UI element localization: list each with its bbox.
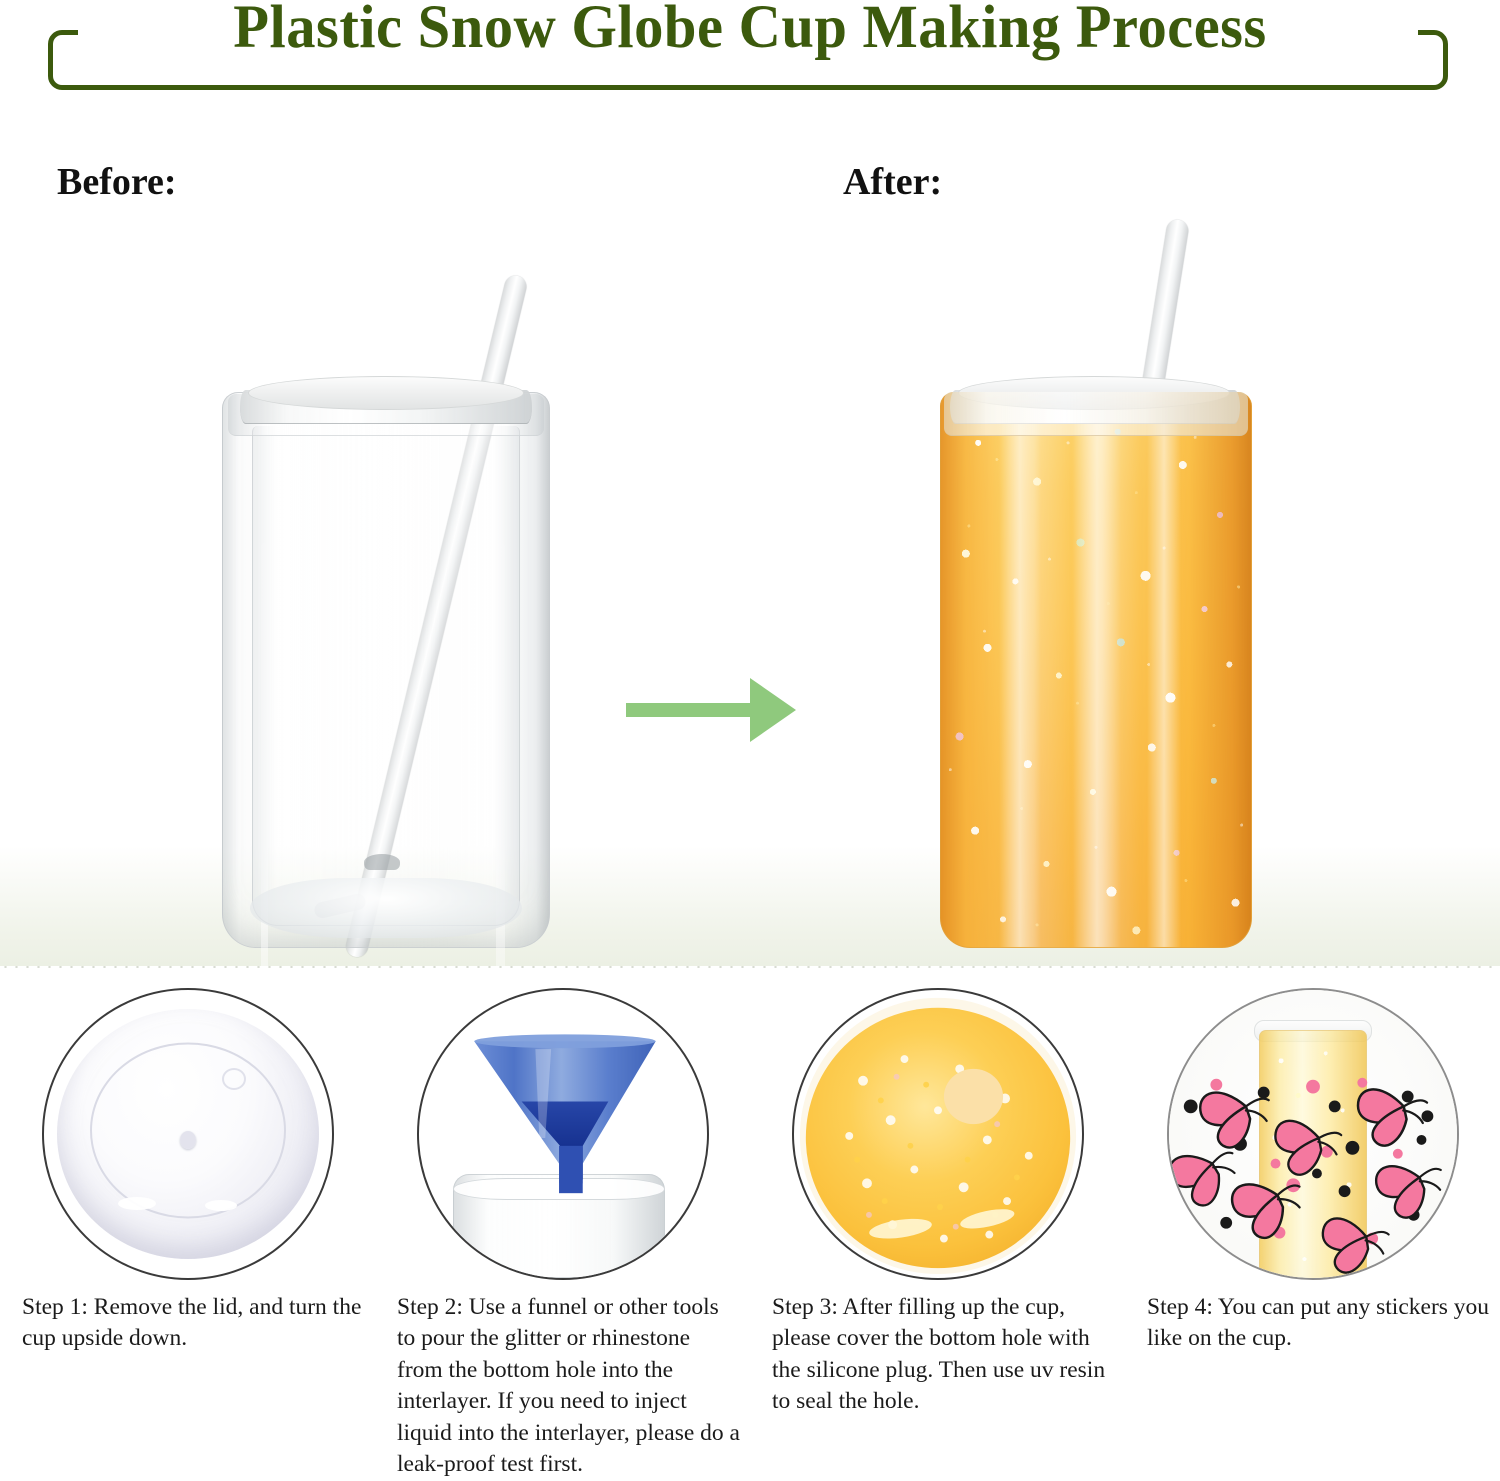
cup-bottom-hole <box>180 1131 196 1149</box>
cup-highlight-left <box>999 393 1041 947</box>
before-product-image <box>222 276 550 948</box>
steps-row: Step 1: Remove the lid, and turn the cup… <box>0 980 1500 1465</box>
clear-cup-bottom-photo <box>42 988 334 1280</box>
step-4-item: Step 4: You can put any stickers you lik… <box>1125 980 1500 1465</box>
butterfly-stickers-overlay <box>1169 990 1457 1278</box>
clear-cup-inner-wall <box>252 426 520 926</box>
cup-highlight-right <box>1147 393 1181 947</box>
transform-arrow-icon <box>626 656 796 764</box>
after-label: After: <box>843 160 942 204</box>
step-2-caption: Step 2: Use a funnel or other tools to p… <box>397 1292 740 1481</box>
before-after-stage <box>0 100 1500 966</box>
filled-glitter-bottom-photo <box>792 988 1084 1280</box>
blue-funnel-icon <box>419 990 707 1278</box>
step-1-item: Step 1: Remove the lid, and turn the cup… <box>0 980 375 1465</box>
clear-lid-top <box>248 376 524 410</box>
glitter-cup-body <box>940 392 1252 948</box>
step-3-item: Step 3: After filling up the cup, please… <box>750 980 1125 1465</box>
cup-bottom-bubble <box>222 1068 246 1090</box>
section-divider <box>0 966 1500 968</box>
clear-cup-base <box>250 878 522 938</box>
step-2-item: Step 2: Use a funnel or other tools to p… <box>375 980 750 1465</box>
page-header: Plastic Snow Globe Cup Making Process <box>0 0 1500 100</box>
silicone-plug-detail <box>364 854 400 870</box>
glitter-bottom-icon <box>794 990 1082 1278</box>
step-1-caption: Step 1: Remove the lid, and turn the cup… <box>22 1292 365 1355</box>
step-3-caption: Step 3: After filling up the cup, please… <box>772 1292 1115 1418</box>
page-title: Plastic Snow Globe Cup Making Process <box>30 0 1470 60</box>
cup-highlight-center <box>1073 393 1121 947</box>
blue-funnel-photo <box>417 988 709 1280</box>
step-4-caption: Step 4: You can put any stickers you lik… <box>1147 1292 1490 1355</box>
after-product-image <box>940 276 1252 948</box>
before-label: Before: <box>57 160 177 204</box>
glitter-cup-neck <box>944 392 1248 436</box>
butterfly-sticker-cup-photo <box>1167 988 1459 1280</box>
